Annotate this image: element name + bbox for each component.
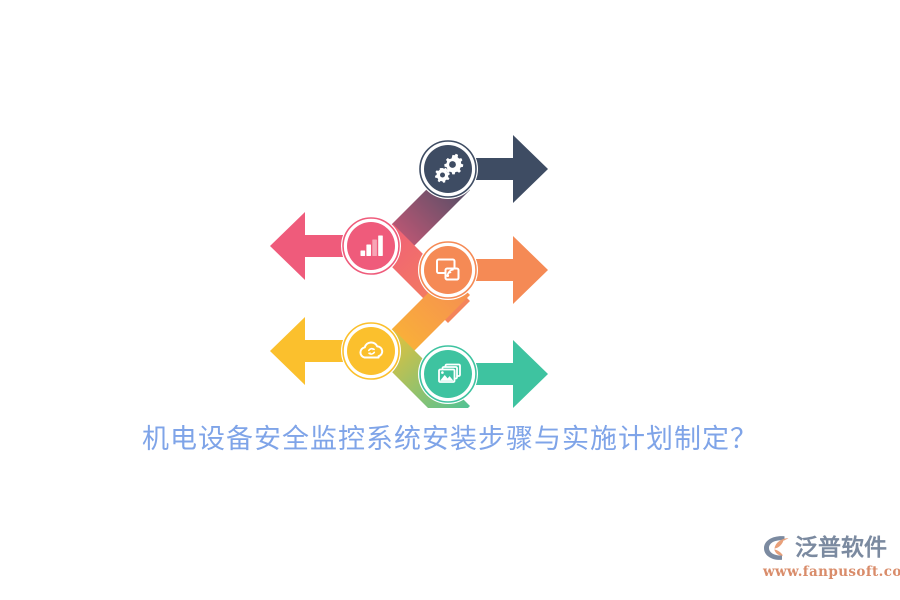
step-circle-5-green[interactable] [418, 344, 478, 404]
step-circle-2-pink[interactable] [341, 216, 401, 276]
brand-row: 泛普软件 [762, 533, 898, 563]
page-title: 机电设备安全监控系统安装步骤与实施计划制定？ [0, 424, 900, 456]
step-circle-1-navy[interactable] [418, 139, 478, 199]
arrow-process-infographic [258, 118, 558, 408]
fanpu-logo-icon [762, 534, 792, 562]
page-canvas: 机电设备安全监控系统安装步骤与实施计划制定？ 泛普软件 www.fanpusof… [0, 0, 900, 600]
step-circle-3-orange[interactable] [418, 240, 478, 300]
brand-url: www.fanpusoft.com [762, 564, 898, 580]
infographic-svg [258, 118, 558, 408]
step-circle-4-yellow[interactable] [341, 321, 401, 381]
brand-name: 泛普软件 [795, 534, 887, 562]
brand-watermark: 泛普软件 www.fanpusoft.com [762, 533, 898, 585]
